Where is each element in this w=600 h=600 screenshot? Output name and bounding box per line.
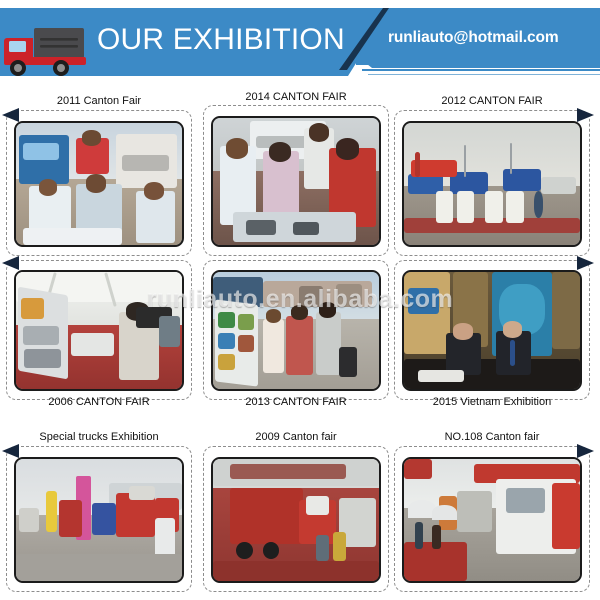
exhibition-photo[interactable] — [211, 116, 381, 247]
arrow-right-icon — [577, 108, 594, 122]
gallery-cell[interactable]: 2012 CANTON FAIR — [394, 92, 590, 257]
gallery-cell[interactable]: NO.108 Canton fair — [394, 428, 590, 593]
banner-accent-line-1 — [356, 63, 600, 65]
cell-label: 2014 CANTON FAIR — [203, 91, 389, 104]
exhibition-photo[interactable] — [14, 270, 184, 391]
exhibition-photo[interactable] — [402, 270, 582, 391]
gallery-cell[interactable]: 2011 Canton Fair — [6, 92, 192, 257]
cell-label: 2013 CANTON FAIR — [203, 396, 389, 409]
arrow-left-icon — [2, 108, 19, 122]
arrow-right-icon — [577, 444, 594, 458]
gallery-cell[interactable]: 2006 CANTON FAIR — [6, 260, 192, 425]
cell-label: 2006 CANTON FAIR — [6, 396, 192, 409]
arrow-left-icon — [2, 256, 19, 270]
gallery-row: Special trucks Exhibition — [0, 428, 600, 593]
gallery-cell[interactable]: Special trucks Exhibition — [6, 428, 192, 593]
cell-label: 2011 Canton Fair — [6, 95, 192, 108]
gallery-row: 2011 Canton Fair — [0, 92, 600, 257]
cell-label: 2009 Canton fair — [203, 431, 389, 444]
page-header: OUR EXHIBITION runliauto@hotmail.com — [0, 0, 600, 92]
arrow-right-icon — [577, 256, 594, 270]
cell-label: NO.108 Canton fair — [394, 431, 590, 444]
cell-label: 2015 Vietnam Exhibition — [394, 396, 590, 409]
gallery-cell[interactable]: 2013 CANTON FAIR — [203, 260, 389, 425]
cell-label: 2012 CANTON FAIR — [394, 95, 590, 108]
gallery-row: 2006 CANTON FAIR — [0, 260, 600, 425]
contact-email: runliauto@hotmail.com — [388, 29, 559, 47]
exhibition-photo[interactable] — [14, 457, 184, 583]
cell-label: Special trucks Exhibition — [6, 431, 192, 444]
exhibition-photo[interactable] — [211, 270, 381, 391]
banner-accent-line-3 — [368, 74, 600, 75]
exhibition-photo[interactable] — [211, 457, 381, 583]
exhibition-photo[interactable] — [402, 457, 582, 583]
exhibition-gallery-grid: 2011 Canton Fair — [0, 92, 600, 600]
page-title: OUR EXHIBITION — [97, 23, 345, 57]
exhibition-photo[interactable] — [402, 121, 582, 247]
arrow-left-icon — [2, 444, 19, 458]
exhibition-photo[interactable] — [14, 121, 184, 247]
gallery-cell[interactable]: 2015 Vietnam Exhibition — [394, 260, 590, 425]
banner-accent-line-2 — [362, 69, 600, 71]
gallery-cell[interactable]: 2014 CANTON FAIR — [203, 92, 389, 257]
gallery-cell[interactable]: 2009 Canton fair — [203, 428, 389, 593]
red-truck-icon — [4, 24, 90, 78]
